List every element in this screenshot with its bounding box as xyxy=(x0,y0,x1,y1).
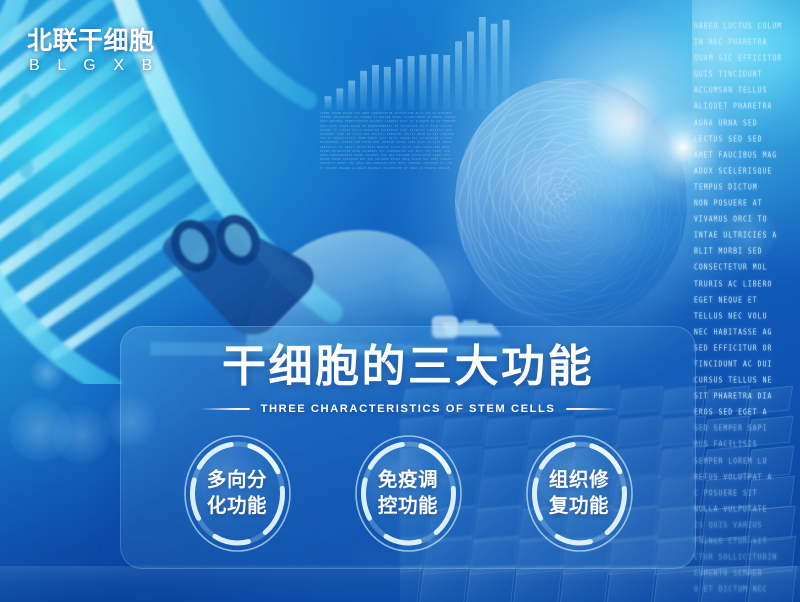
keyboard-key xyxy=(513,566,562,602)
subtitle-rule-left xyxy=(200,408,250,410)
chart-bar xyxy=(455,41,462,110)
chart-bar xyxy=(324,96,331,110)
keyboard-key xyxy=(607,566,656,602)
feature-circle-label: 免疫调控功能 xyxy=(378,468,438,519)
feature-label-line-2: 化功能 xyxy=(207,494,267,519)
chart-bar xyxy=(491,24,498,110)
chart-bar xyxy=(443,55,450,110)
feature-label-line-1: 多向分 xyxy=(207,468,267,493)
feature-circle-list: 多向分化功能免疫调控功能组织修复功能 xyxy=(120,434,696,553)
chart-bar xyxy=(336,88,343,110)
brand-logo[interactable]: 北联干细胞 B L G X B xyxy=(27,27,159,75)
chart-bar xyxy=(396,59,403,110)
chart-bar xyxy=(372,65,379,110)
chart-bar xyxy=(467,32,474,110)
chart-bar xyxy=(419,55,426,110)
subtitle-rule-right xyxy=(566,408,616,410)
feature-circle-label: 组织修复功能 xyxy=(549,468,609,519)
chart-bar xyxy=(431,54,438,110)
keyboard-key xyxy=(466,566,515,602)
feature-label-line-2: 控功能 xyxy=(378,494,438,519)
feature-circle-3[interactable]: 组织修复功能 xyxy=(525,434,634,553)
cell-texture-ring xyxy=(524,150,620,254)
feature-circle-2[interactable]: 免疫调控功能 xyxy=(354,434,463,553)
feature-circle-1[interactable]: 多向分化功能 xyxy=(183,434,292,553)
chart-bar xyxy=(348,81,355,110)
bokeh-orb xyxy=(52,406,110,464)
hero-title-block: 干细胞的三大功能 THREE CHARACTERISTICS OF STEM C… xyxy=(120,344,696,415)
feature-label-line-1: 组织修 xyxy=(549,468,609,493)
content-glass-panel: 干细胞的三大功能 THREE CHARACTERISTICS OF STEM C… xyxy=(120,326,696,569)
page-title: 干细胞的三大功能 xyxy=(120,344,696,390)
brand-name-cn: 北联干细胞 xyxy=(27,27,159,55)
subtitle-row: THREE CHARACTERISTICS OF STEM CELLS xyxy=(120,403,696,415)
brand-name-en: B L G X B xyxy=(27,57,159,75)
chart-bar xyxy=(479,17,486,110)
chart-bar xyxy=(384,67,391,110)
page-subtitle: THREE CHARACTERISTICS OF STEM CELLS xyxy=(261,403,556,415)
feature-circle-label: 多向分化功能 xyxy=(207,468,267,519)
decorative-code-column: HABEO LUCTUS CULUMIN NEC PHARETRAQUAM SI… xyxy=(692,0,800,602)
code-line: O ET DICTUM NEC xyxy=(694,580,796,599)
chart-bar xyxy=(408,56,415,110)
cell-texture-ring xyxy=(557,187,586,218)
background-bar-chart xyxy=(322,6,512,110)
feature-label-line-1: 免疫调 xyxy=(378,468,438,493)
feature-label-line-2: 复功能 xyxy=(549,494,609,519)
bokeh-orb xyxy=(8,398,72,462)
chart-bar xyxy=(360,71,367,110)
keyboard-key xyxy=(560,566,609,602)
keyboard-key xyxy=(419,566,468,602)
keyboard-key xyxy=(400,566,421,602)
hero-banner: LOREM IPSUM DOLOR SIT AMET CONSECTETUR A… xyxy=(0,0,800,602)
